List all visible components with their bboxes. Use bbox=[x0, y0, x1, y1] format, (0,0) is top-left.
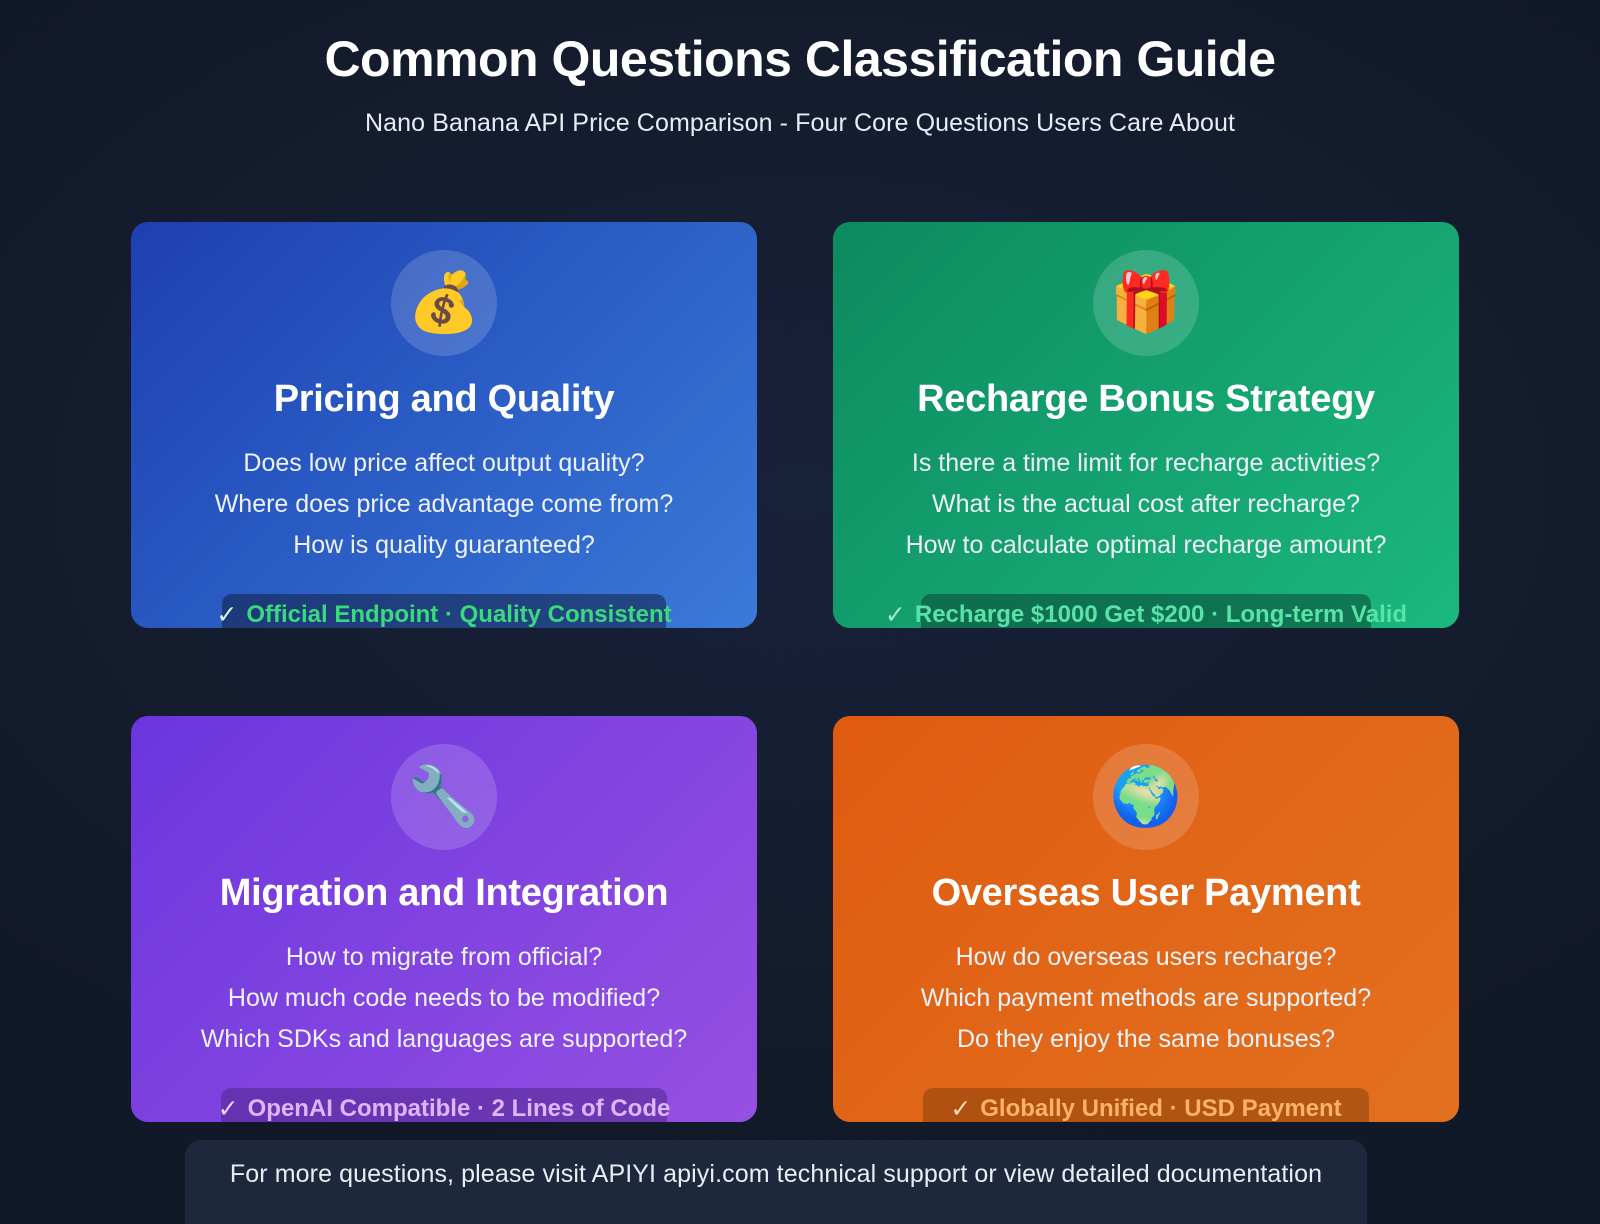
check-icon: ✓ bbox=[885, 600, 906, 628]
card-questions-overseas: How do overseas users recharge? Which pa… bbox=[833, 937, 1459, 1060]
card-overseas-user-payment[interactable]: 🌍 Overseas User Payment How do overseas … bbox=[833, 716, 1459, 1122]
card-questions-migration: How to migrate from official? How much c… bbox=[131, 937, 757, 1060]
card-title-migration: Migration and Integration bbox=[131, 872, 757, 915]
question-card-grid: 💰 Pricing and Quality Does low price aff… bbox=[131, 222, 1444, 1122]
card-question: How do overseas users recharge? bbox=[833, 937, 1459, 978]
page-header: Common Questions Classification Guide Na… bbox=[0, 0, 1600, 138]
card-question: Is there a time limit for recharge activ… bbox=[833, 443, 1459, 484]
gift-box-icon: 🎁 bbox=[1093, 250, 1199, 356]
status-badge-label: OpenAI Compatible · 2 Lines of Code bbox=[248, 1095, 671, 1122]
card-title-pricing: Pricing and Quality bbox=[131, 378, 757, 421]
card-question: Do they enjoy the same bonuses? bbox=[833, 1019, 1459, 1060]
card-question: Which SDKs and languages are supported? bbox=[131, 1019, 757, 1060]
status-badge-recharge: ✓ Recharge $1000 Get $200 · Long-term Va… bbox=[921, 594, 1371, 628]
card-badge-row-migration: ✓ OpenAI Compatible · 2 Lines of Code bbox=[131, 1088, 757, 1122]
status-badge-label: Globally Unified · USD Payment bbox=[980, 1095, 1341, 1122]
card-question: How much code needs to be modified? bbox=[131, 978, 757, 1019]
footer-bar: For more questions, please visit APIYI a… bbox=[185, 1140, 1367, 1224]
card-question: Where does price advantage come from? bbox=[131, 484, 757, 525]
check-icon: ✓ bbox=[216, 600, 237, 628]
card-badge-row-recharge: ✓ Recharge $1000 Get $200 · Long-term Va… bbox=[833, 594, 1459, 628]
check-icon: ✓ bbox=[218, 1094, 239, 1122]
check-icon: ✓ bbox=[950, 1094, 971, 1122]
globe-icon: 🌍 bbox=[1093, 744, 1199, 850]
card-badge-row-pricing: ✓ Official Endpoint · Quality Consistent bbox=[131, 594, 757, 628]
card-questions-recharge: Is there a time limit for recharge activ… bbox=[833, 443, 1459, 566]
card-question: Does low price affect output quality? bbox=[131, 443, 757, 484]
footer-text: For more questions, please visit APIYI a… bbox=[230, 1160, 1322, 1189]
card-badge-row-overseas: ✓ Globally Unified · USD Payment bbox=[833, 1088, 1459, 1122]
page-title: Common Questions Classification Guide bbox=[0, 32, 1600, 87]
card-question: How to migrate from official? bbox=[131, 937, 757, 978]
status-badge-overseas: ✓ Globally Unified · USD Payment bbox=[923, 1088, 1369, 1122]
status-badge-label: Official Endpoint · Quality Consistent bbox=[246, 601, 671, 628]
status-badge-label: Recharge $1000 Get $200 · Long-term Vali… bbox=[915, 601, 1407, 628]
money-bag-icon: 💰 bbox=[391, 250, 497, 356]
card-title-overseas: Overseas User Payment bbox=[833, 872, 1459, 915]
card-question: Which payment methods are supported? bbox=[833, 978, 1459, 1019]
card-pricing-and-quality[interactable]: 💰 Pricing and Quality Does low price aff… bbox=[131, 222, 757, 628]
page-subtitle: Nano Banana API Price Comparison - Four … bbox=[0, 109, 1600, 138]
wrench-icon: 🔧 bbox=[391, 744, 497, 850]
card-question: What is the actual cost after recharge? bbox=[833, 484, 1459, 525]
card-migration-and-integration[interactable]: 🔧 Migration and Integration How to migra… bbox=[131, 716, 757, 1122]
card-questions-pricing: Does low price affect output quality? Wh… bbox=[131, 443, 757, 566]
card-title-recharge: Recharge Bonus Strategy bbox=[833, 378, 1459, 421]
status-badge-pricing: ✓ Official Endpoint · Quality Consistent bbox=[222, 594, 666, 628]
status-badge-migration: ✓ OpenAI Compatible · 2 Lines of Code bbox=[221, 1088, 667, 1122]
card-question: How is quality guaranteed? bbox=[131, 525, 757, 566]
card-question: How to calculate optimal recharge amount… bbox=[833, 525, 1459, 566]
card-recharge-bonus-strategy[interactable]: 🎁 Recharge Bonus Strategy Is there a tim… bbox=[833, 222, 1459, 628]
